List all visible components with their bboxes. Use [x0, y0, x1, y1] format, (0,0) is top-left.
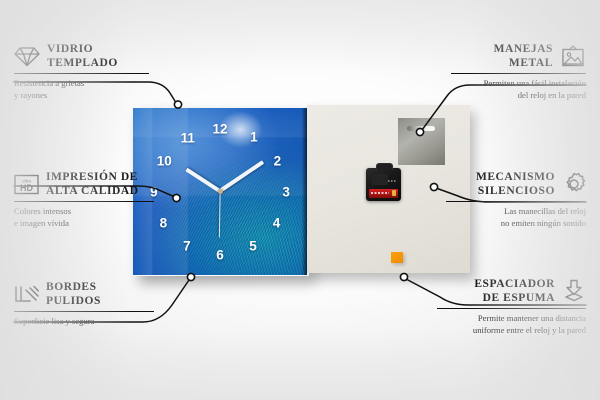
clock-numeral-7: 7	[183, 239, 191, 253]
battery-terminal	[392, 190, 396, 196]
callout-title-line2: SILENCIOSO	[476, 184, 555, 198]
callout-title-line2: TEMPLADO	[47, 56, 118, 70]
hanger-keyhole-slot	[407, 126, 435, 131]
callout-manejas-metal[interactable]: MANEJAS METAL Permiten una fácil instala…	[451, 42, 586, 101]
mechanism-vents	[388, 180, 397, 182]
product-image-group: 12 1 2 3 4 5 6 7 8 9 10 11	[133, 105, 470, 273]
battery	[369, 189, 398, 198]
callout-title-line1: MECANISMO	[476, 170, 555, 184]
ultra-hd-icon-text-bottom: HD	[20, 183, 33, 193]
callout-title-line1: IMPRESIÓN DE	[46, 170, 139, 184]
callout-rule	[446, 201, 586, 202]
callout-rule	[437, 308, 586, 309]
polished-edges-icon	[14, 284, 39, 305]
clock-face-front: 12 1 2 3 4 5 6 7 8 9 10 11	[133, 108, 307, 275]
infographic-canvas: 12 1 2 3 4 5 6 7 8 9 10 11	[0, 0, 600, 400]
callout-subtitle-line1: Superficie lisa y segura	[14, 316, 154, 327]
callout-title-line2: DE ESPUMA	[474, 291, 555, 305]
callout-subtitle-line1: Colores intensos	[14, 206, 154, 217]
clock-numeral-11: 11	[181, 131, 195, 145]
callout-subtitle-line1: Las manecillas del reloj	[446, 206, 586, 217]
callout-subtitle-line2: del reloj en la pared	[451, 90, 586, 101]
mechanism-dial	[372, 174, 388, 185]
diamond-icon	[14, 46, 40, 67]
callout-subtitle-line2: y rayones	[14, 90, 149, 101]
clock-numeral-4: 4	[273, 216, 281, 230]
callout-espaciador-espuma[interactable]: ESPACIADOR DE ESPUMA Permite mantener un…	[437, 277, 586, 336]
ultra-hd-icon: ultra HD	[14, 174, 39, 195]
picture-frame-icon	[560, 45, 586, 67]
callout-title-line1: ESPACIADOR	[474, 277, 555, 291]
clock-numeral-6: 6	[216, 248, 224, 262]
clock-numeral-3: 3	[282, 185, 290, 199]
callout-rule	[451, 73, 586, 74]
callout-vidrio-templado[interactable]: VIDRIO TEMPLADO Resistencia a grietas y …	[14, 42, 149, 101]
clock-numeral-12: 12	[212, 122, 227, 136]
clock-numeral-8: 8	[160, 216, 168, 230]
clock-numeral-1: 1	[250, 130, 258, 144]
clock-center-cap	[218, 189, 223, 194]
callout-subtitle-line1: Permiten una fácil instalación	[451, 78, 586, 89]
metal-hanger-plate	[398, 118, 445, 165]
callout-mecanismo-silencioso[interactable]: MECANISMO SILENCIOSO Las manecillas del …	[446, 170, 586, 229]
callout-subtitle-line1: Resistencia a grietas	[14, 78, 149, 89]
callout-title-line2: PULIDOS	[46, 294, 101, 308]
callout-subtitle-line1: Permite mantener una distancia	[437, 313, 586, 324]
callout-subtitle-line2: uniforme entre el reloj y la pared	[437, 325, 586, 336]
gear-icon	[562, 172, 586, 196]
callout-impresion-alta-calidad[interactable]: ultra HD IMPRESIÓN DE ALTA CALIDAD Color…	[14, 170, 154, 229]
foam-spacer	[391, 252, 403, 263]
mechanism-hanging-tab	[376, 163, 393, 170]
callout-title-line1: MANEJAS	[494, 42, 553, 56]
callout-title-line2: METAL	[494, 56, 553, 70]
clock-numeral-10: 10	[157, 154, 172, 168]
callout-title-line1: VIDRIO	[47, 42, 118, 56]
callout-rule	[14, 311, 154, 312]
callout-dot-espaciador-espuma	[400, 273, 407, 280]
battery-label-stripe	[371, 192, 389, 194]
callout-title-line2: ALTA CALIDAD	[46, 184, 139, 198]
callout-title-line1: BORDES	[46, 280, 101, 294]
callout-subtitle-line2: no emiten ningún sonido	[446, 218, 586, 229]
callout-rule	[14, 201, 154, 202]
callout-rule	[14, 73, 149, 74]
clock-numeral-2: 2	[274, 154, 282, 168]
callout-bordes-pulidos[interactable]: BORDES PULIDOS Superficie lisa y segura	[14, 280, 154, 328]
down-arrow-spacer-icon	[562, 279, 586, 303]
callout-subtitle-line2: e imagen vívida	[14, 218, 154, 229]
clock-numeral-5: 5	[249, 239, 257, 253]
clock-mechanism-box	[366, 168, 401, 201]
